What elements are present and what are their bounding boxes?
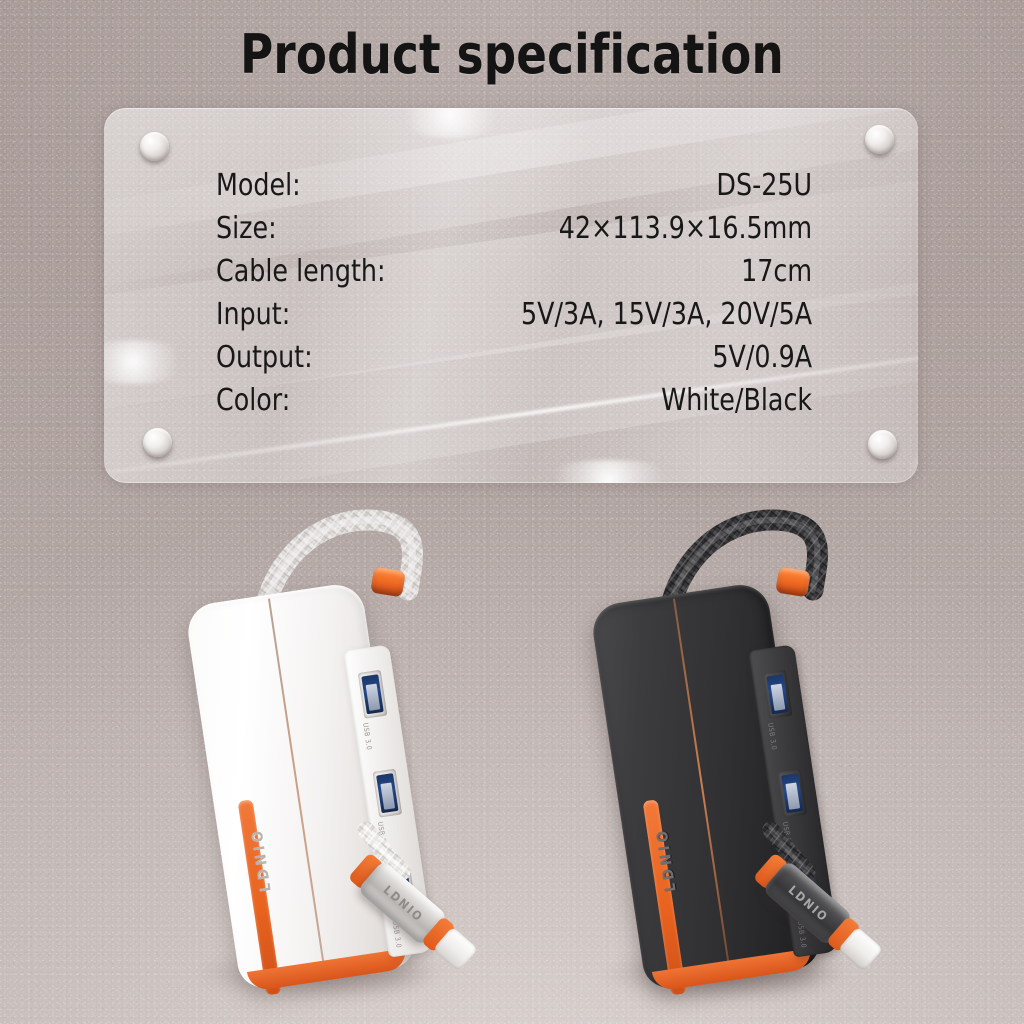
product-white: LDNIO USB 3.0 USB 3.0 USB 3.0 <box>190 494 520 1004</box>
product-black: LDNIO USB 3.0 USB 3.0 USB 3.0 LDNIO <box>595 494 925 1004</box>
spec-label: Cable length: <box>216 254 386 289</box>
panel-screw-top-right <box>865 125 894 154</box>
connector-cable-black <box>595 494 925 1004</box>
panel-screw-top-left <box>140 132 169 161</box>
spec-row: Output: 5V/0.9A <box>216 340 812 383</box>
panel-screw-bottom-right <box>868 430 897 459</box>
spec-value: White/Black <box>661 383 812 418</box>
panel-glint <box>534 460 684 483</box>
spec-label: Color: <box>216 383 290 418</box>
panel-glint <box>104 340 192 384</box>
spec-value: DS-25U <box>716 168 812 203</box>
spec-label: Input: <box>216 297 290 332</box>
spec-row: Color: White/Black <box>216 383 812 426</box>
spec-label: Model: <box>216 168 301 203</box>
spec-table: Model: DS-25U Size: 42×113.9×16.5mm Cabl… <box>216 168 812 426</box>
spec-row: Model: DS-25U <box>216 168 812 211</box>
spec-label: Output: <box>216 340 313 375</box>
panel-glint <box>390 108 510 138</box>
spec-value: 5V/0.9A <box>712 340 812 375</box>
spec-value: 17cm <box>741 254 812 289</box>
spec-row: Size: 42×113.9×16.5mm <box>216 211 812 254</box>
spec-row: Input: 5V/3A, 15V/3A, 20V/5A <box>216 297 812 340</box>
spec-value: 42×113.9×16.5mm <box>559 211 812 246</box>
spec-value: 5V/3A, 15V/3A, 20V/5A <box>521 297 812 332</box>
spec-label: Size: <box>216 211 277 246</box>
panel-screw-bottom-left <box>143 428 172 457</box>
page-title: Product specification <box>36 23 988 86</box>
spec-row: Cable length: 17cm <box>216 254 812 297</box>
connector-cable-white <box>190 494 520 1004</box>
